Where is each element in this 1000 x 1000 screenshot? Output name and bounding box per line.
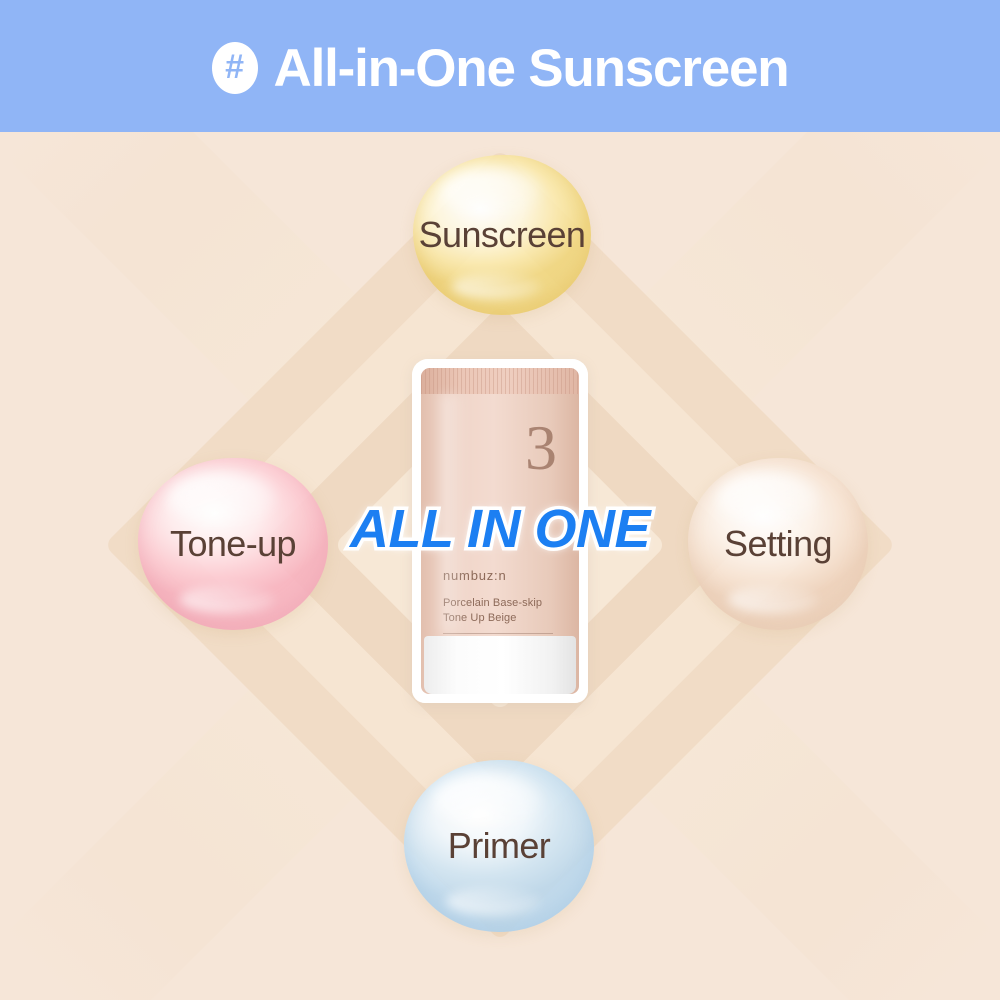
product-tube-cap	[424, 636, 576, 694]
product-name-line2: Tone Up Beige	[443, 611, 561, 626]
page-title: All-in-One Sunscreen	[274, 42, 789, 95]
product-promo-poster: # All-in-One Sunscreen Sunscreen Tone-up…	[0, 0, 1000, 1000]
product-divider	[443, 633, 553, 634]
droplet-label-setting: Setting	[724, 523, 832, 565]
header-band: # All-in-One Sunscreen	[0, 0, 1000, 132]
droplet-label-primer: Primer	[448, 825, 550, 867]
droplet-toneup: Tone-up	[138, 458, 328, 630]
hash-icon: #	[212, 42, 258, 94]
product-tube-crimp-seal	[421, 368, 579, 394]
droplet-label-toneup: Tone-up	[170, 523, 296, 565]
product-name-line1: Porcelain Base-skip	[443, 596, 561, 611]
droplet-primer: Primer	[404, 760, 594, 932]
hash-symbol: #	[225, 50, 244, 84]
droplet-sunscreen: Sunscreen	[413, 155, 591, 315]
header-inner: # All-in-One Sunscreen	[212, 42, 789, 95]
product-tube: 3 numbuz:n Porcelain Base-skip Tone Up B…	[421, 368, 579, 694]
droplet-setting: Setting	[688, 458, 868, 630]
product-tube-body: 3 numbuz:n Porcelain Base-skip Tone Up B…	[421, 368, 579, 694]
product-number: 3	[525, 416, 557, 480]
droplet-label-sunscreen: Sunscreen	[419, 214, 586, 256]
product-brand: numbuz:n	[443, 568, 561, 583]
